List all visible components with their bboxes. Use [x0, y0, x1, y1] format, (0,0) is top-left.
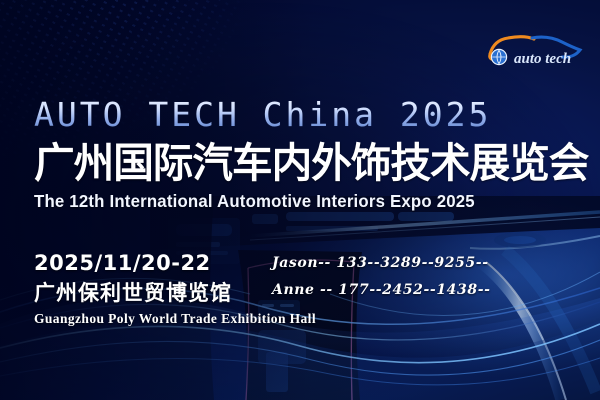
details-block: 2025/11/20-22 广州保利世贸博览馆 Guangzhou Poly W…	[34, 252, 592, 326]
headline-block: AUTO TECH China 2025 广州国际汽车内外饰技术展览会 The …	[34, 98, 590, 211]
english-subtitle: The 12th International Automotive Interi…	[34, 193, 568, 211]
venue-name-en: Guangzhou Poly World Trade Exhibition Ha…	[34, 312, 592, 326]
chinese-title: 广州国际汽车内外饰技术展览会	[34, 143, 584, 184]
poster-canvas: auto tech AUTO TECH China 2025 广州国际汽车内外饰…	[0, 0, 600, 400]
contact-anne: Anne -- 177--2452--1438--	[272, 283, 491, 297]
auto-tech-logo: auto tech	[474, 26, 586, 72]
logo-wordmark: auto tech	[514, 51, 571, 67]
contact-jason: Jason-- 133--3289--9255--	[272, 256, 491, 270]
english-title: AUTO TECH China 2025	[34, 98, 590, 131]
contact-list: Jason-- 133--3289--9255-- Anne -- 177--2…	[272, 256, 491, 297]
